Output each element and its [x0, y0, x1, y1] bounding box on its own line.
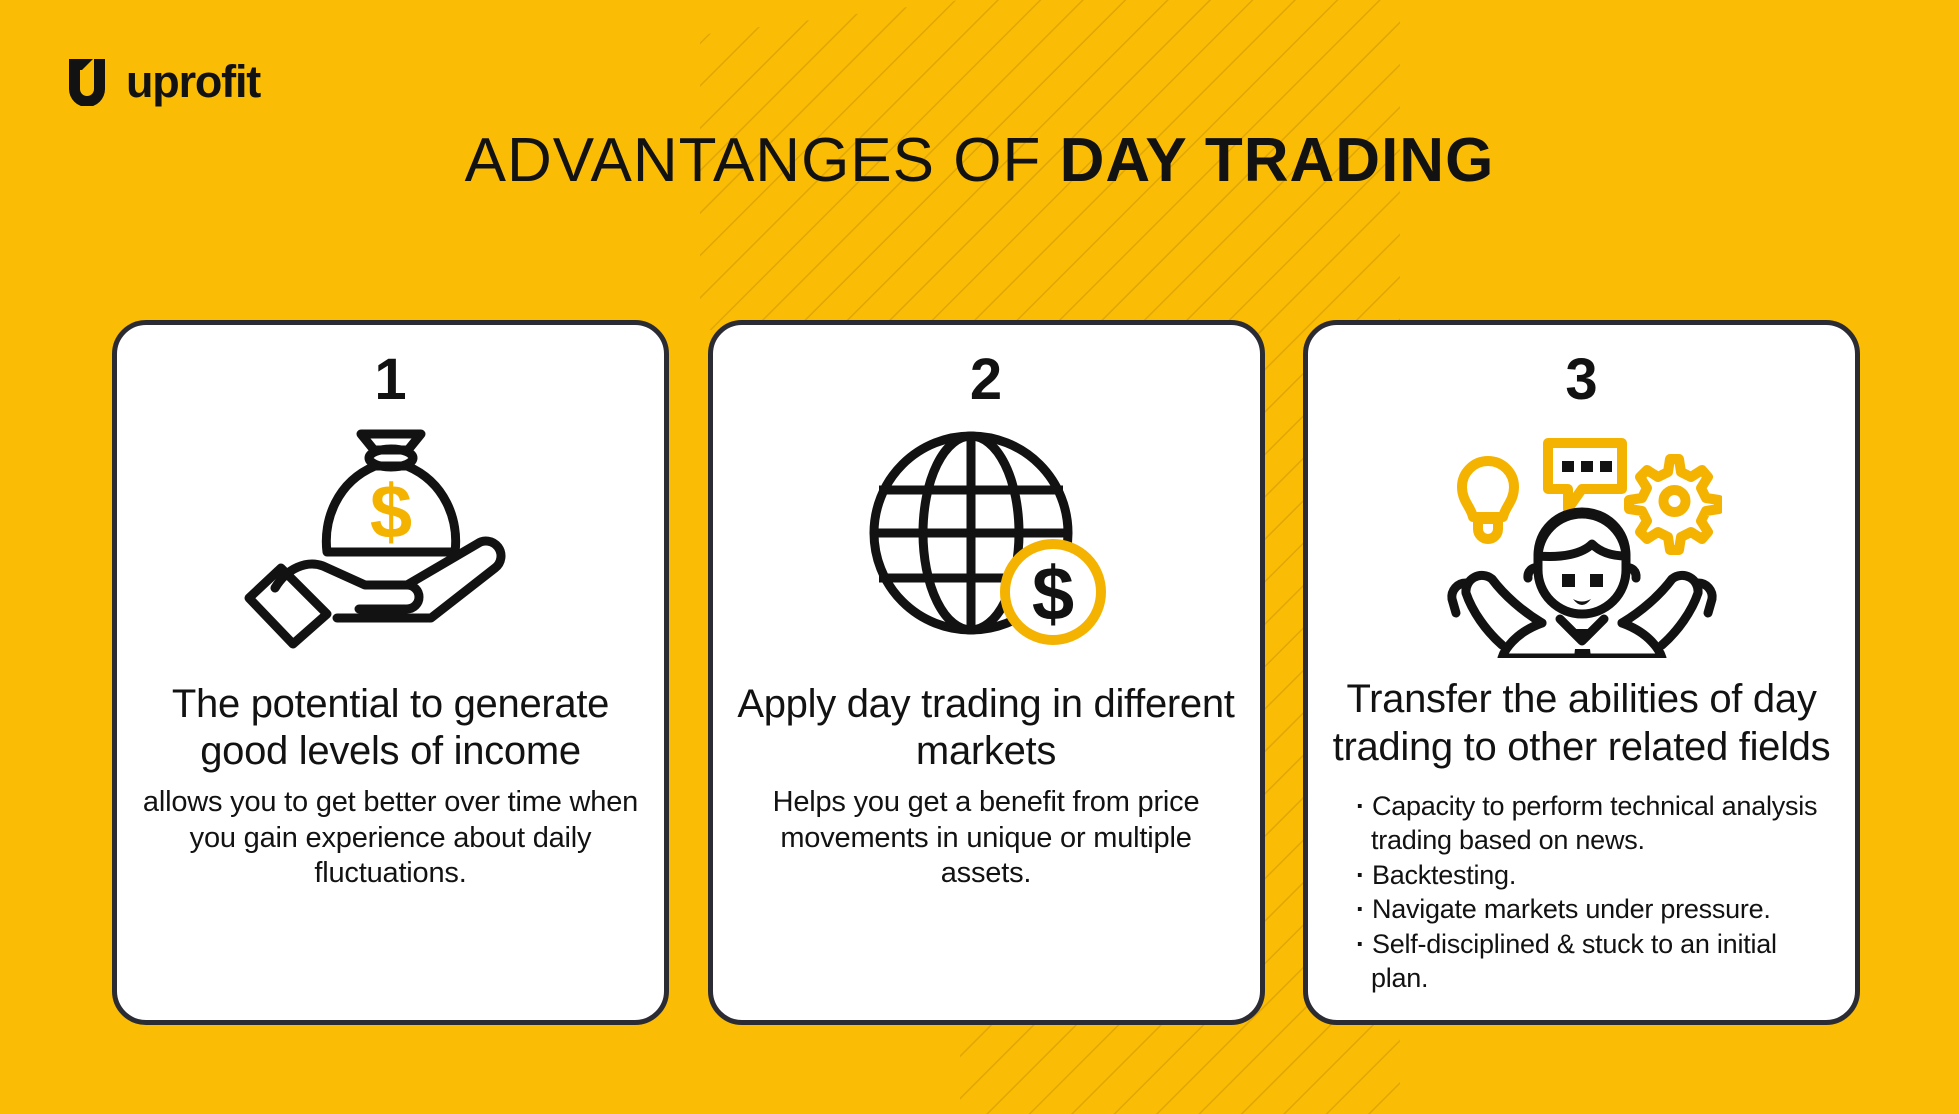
card-number: 1	[374, 351, 406, 409]
page-title-regular: ADVANTANGES OF	[465, 126, 1060, 195]
list-item: Self-disciplined & stuck to an initial p…	[1356, 927, 1833, 996]
uprofit-logo-mark-icon	[66, 56, 108, 106]
card-number: 3	[1565, 351, 1597, 409]
brand-logo[interactable]: uprofit	[66, 56, 260, 106]
card-heading: The potential to generate good levels of…	[139, 681, 642, 775]
hand-holding-money-bag-icon: $	[241, 419, 541, 667]
businessman-with-idea-chat-gear-icon	[1442, 419, 1722, 662]
card-heading: Transfer the abilities of day trading to…	[1330, 676, 1833, 770]
card-bullet-list: Capacity to perform technical analysis t…	[1330, 789, 1833, 996]
advantage-card[interactable]: 3	[1303, 320, 1860, 1025]
advantage-card[interactable]: 1 $ The potential to genera	[112, 320, 669, 1025]
globe-with-dollar-coin-icon: $	[861, 419, 1111, 667]
page-title: ADVANTANGES OF DAY TRADING	[0, 125, 1959, 196]
card-body: allows you to get better over time when …	[139, 785, 642, 891]
advantage-card[interactable]: 2 $ Apply day trading in different marke…	[708, 320, 1265, 1025]
list-item: Backtesting.	[1356, 858, 1833, 893]
brand-name: uprofit	[126, 59, 260, 104]
page-title-strong: DAY TRADING	[1060, 126, 1495, 195]
card-number: 2	[970, 351, 1002, 409]
svg-text:$: $	[369, 470, 411, 555]
advantages-card-grid: 1 $ The potential to genera	[112, 320, 1860, 1025]
list-item: Capacity to perform technical analysis t…	[1356, 789, 1833, 858]
list-item: Navigate markets under pressure.	[1356, 892, 1833, 927]
card-body: Helps you get a benefit from price movem…	[735, 785, 1238, 891]
svg-text:$: $	[1032, 552, 1074, 637]
card-heading: Apply day trading in different markets	[735, 681, 1238, 775]
